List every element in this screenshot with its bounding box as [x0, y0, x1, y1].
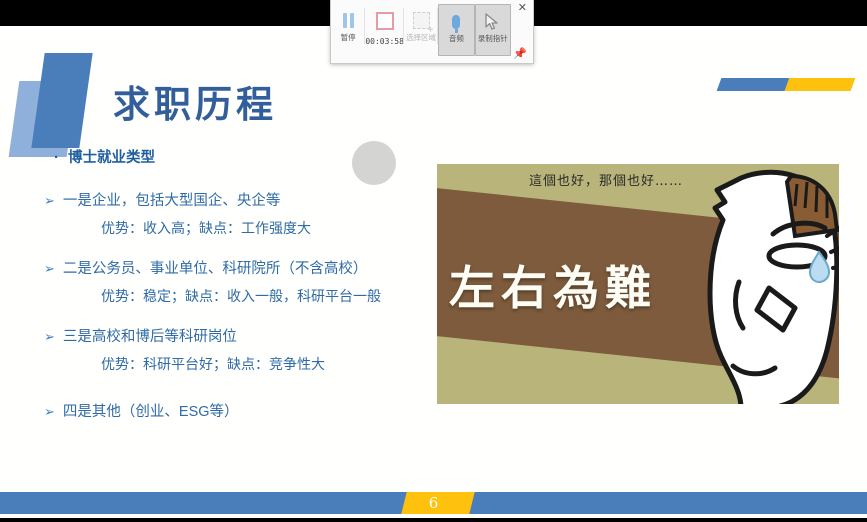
- bullet-main-line: ➢ 三是高校和博后等科研岗位: [44, 325, 444, 346]
- page-title: 求职历程: [113, 74, 277, 128]
- record-pointer-icon: [485, 9, 500, 34]
- toolbar-buttons-row: 暂停 00:03:58 选择区域 音频 录制指针: [331, 4, 511, 56]
- pause-button[interactable]: 暂停: [331, 4, 365, 56]
- bullet-main-label: 二是公务员、事业单位、科研院所（不含高校）: [63, 257, 368, 278]
- cartoon-face-icon: [645, 164, 839, 404]
- bullet-main-line: ➢ 四是其他（创业、ESG等）: [44, 400, 444, 421]
- presentation-slide: 求职历程 · 博士就业类型 ➢ 一是企业，包括大型国企、央企等 优势：收入高；缺…: [0, 26, 867, 518]
- microphone-icon: [452, 9, 460, 34]
- bullet-main-line: ➢ 一是企业，包括大型国企、央企等: [44, 189, 444, 210]
- bullet-sub-label: 优势：科研平台好；缺点：竞争性大: [101, 354, 444, 374]
- page-number: 6: [0, 492, 867, 514]
- audio-label: 音频: [449, 34, 464, 43]
- slide-body: · 博士就业类型 ➢ 一是企业，包括大型国企、央企等 优势：收入高；缺点：工作强…: [44, 146, 444, 440]
- bullet-item: ➢ 四是其他（创业、ESG等）: [44, 400, 444, 421]
- arrow-icon: ➢: [44, 262, 55, 275]
- arrow-icon: ➢: [44, 194, 55, 207]
- stop-recording-button[interactable]: 00:03:58: [365, 4, 404, 56]
- select-region-button[interactable]: 选择区域: [404, 4, 438, 56]
- arrow-icon: ➢: [44, 330, 55, 343]
- bullet-main-label: 三是高校和博后等科研岗位: [63, 325, 237, 346]
- bullet-sub-label: 优势：收入高；缺点：工作强度大: [101, 218, 444, 238]
- audio-toggle-button[interactable]: 音频: [438, 4, 474, 56]
- accent-bar-blue: [717, 78, 790, 91]
- arrow-icon: ➢: [44, 405, 55, 418]
- bullet-item: ➢ 三是高校和博后等科研岗位 优势：科研平台好；缺点：竞争性大: [44, 325, 444, 374]
- recording-timer: 00:03:58: [365, 33, 404, 46]
- bullet-sub-label: 优势：稳定；缺点：收入一般，科研平台一般: [101, 286, 444, 306]
- record-pointer-label: 录制指针: [478, 34, 508, 43]
- illustration-caption-main: 左右為難: [449, 252, 657, 318]
- select-region-icon: [413, 8, 430, 33]
- bullet-item: ➢ 一是企业，包括大型国企、央企等 优势：收入高；缺点：工作强度大: [44, 189, 444, 238]
- screen-recording-toolbar[interactable]: 暂停 00:03:58 选择区域 音频 录制指针: [330, 0, 534, 64]
- pause-label: 暂停: [341, 33, 356, 42]
- bullet-main-label: 四是其他（创业、ESG等）: [63, 400, 239, 421]
- close-icon[interactable]: ✕: [518, 3, 527, 14]
- screen: 求职历程 · 博士就业类型 ➢ 一是企业，包括大型国企、央企等 优势：收入高；缺…: [0, 0, 867, 522]
- header-accent-bars: [717, 78, 856, 91]
- stop-icon: [376, 8, 394, 33]
- accent-bar-yellow: [785, 78, 856, 91]
- bullet-dot-icon: ·: [54, 150, 59, 165]
- slide-footer: 6: [0, 492, 867, 514]
- record-pointer-button[interactable]: 录制指针: [475, 4, 511, 56]
- cursor-highlight-indicator: [352, 141, 396, 185]
- bullet-main-label: 一是企业，包括大型国企、央企等: [63, 189, 281, 210]
- pin-icon[interactable]: 📌: [513, 49, 527, 60]
- bullet-item: ➢ 二是公务员、事业单位、科研院所（不含高校） 优势：稳定；缺点：收入一般，科研…: [44, 257, 444, 306]
- pause-icon: [341, 8, 355, 33]
- bullet-heading-label: 博士就业类型: [68, 146, 155, 167]
- bullet-main-line: ➢ 二是公务员、事业单位、科研院所（不含高校）: [44, 257, 444, 278]
- title-decoration-dark: [31, 53, 92, 148]
- illustration-image: 這個也好，那個也好…… 左右為難: [437, 164, 839, 404]
